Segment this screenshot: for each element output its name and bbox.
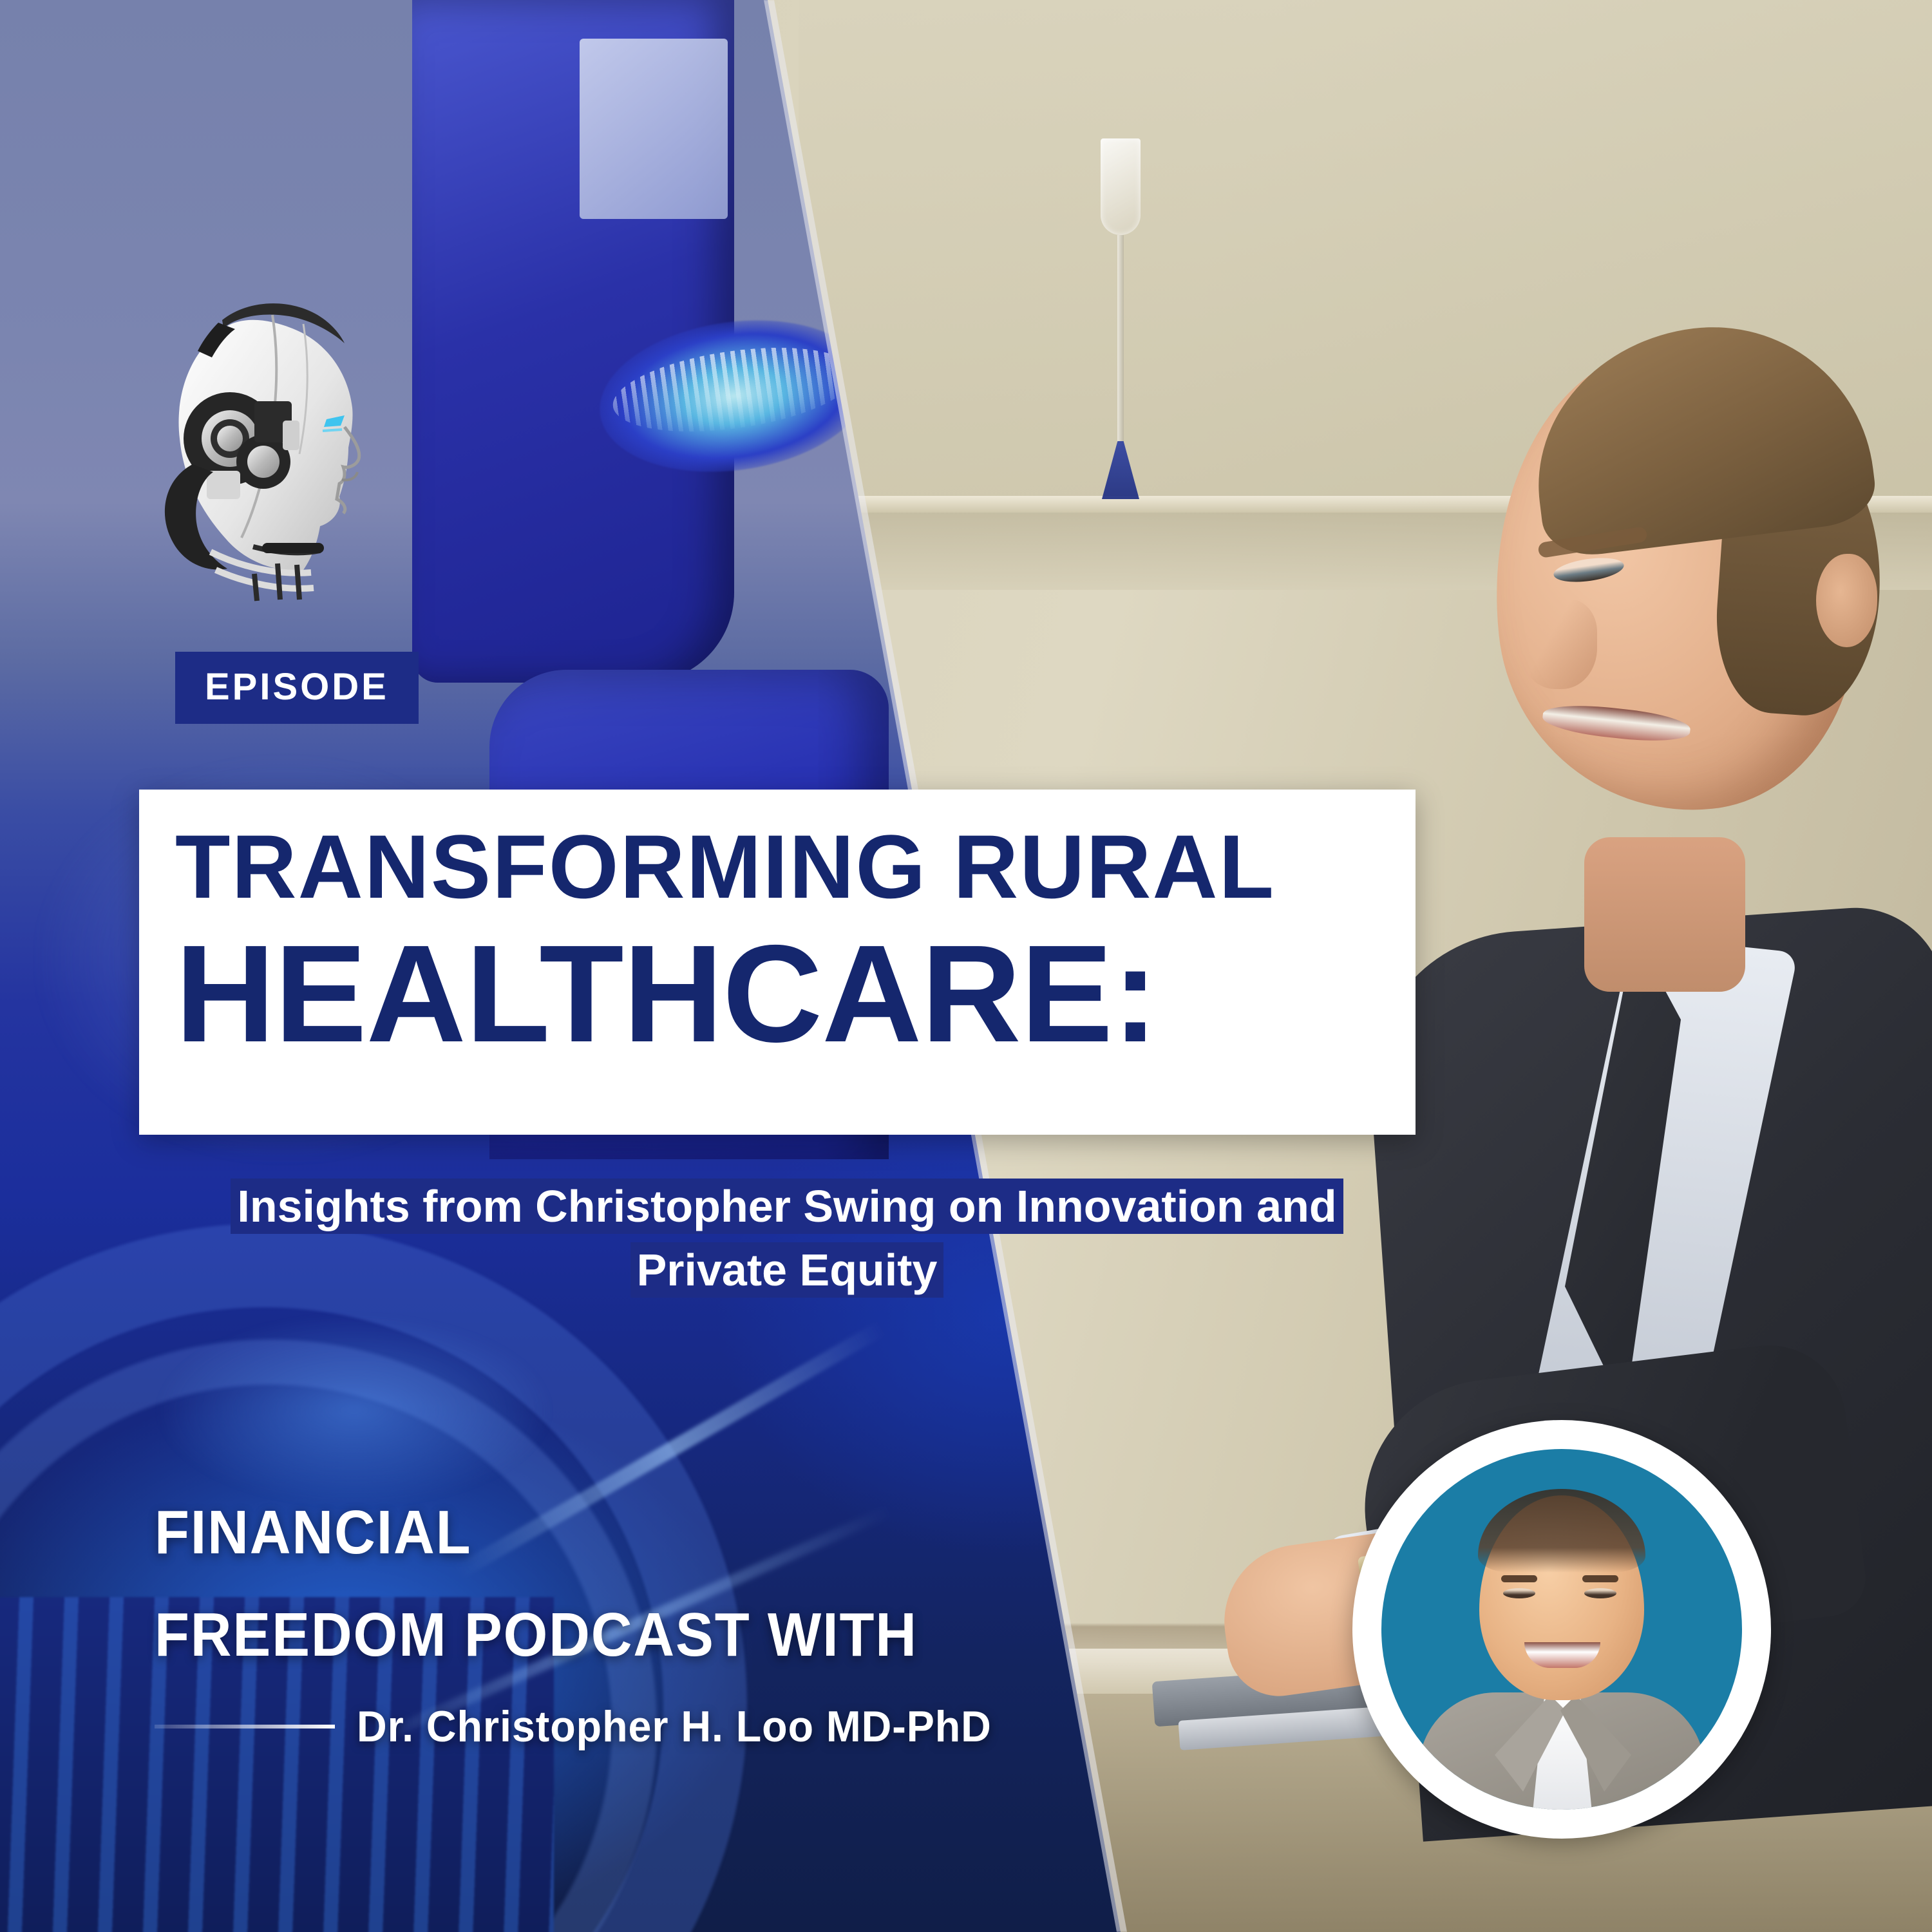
podcast-cover-art: EPISODE TRANSFORMING RURAL HEALTHCARE: I… bbox=[0, 0, 1932, 1932]
robot-head-icon bbox=[151, 287, 396, 602]
host-avatar bbox=[1352, 1420, 1771, 1839]
host-name: Dr. Christopher H. Loo MD-PhD bbox=[357, 1701, 992, 1752]
title-line-1: TRANSFORMING RURAL bbox=[175, 822, 1379, 912]
subtitle-text: Insights from Christopher Swing on Innov… bbox=[231, 1179, 1343, 1298]
title-line-2: HEALTHCARE: bbox=[175, 921, 1379, 1066]
brand-line-1: FINANCIAL bbox=[155, 1501, 1162, 1566]
host-avatar-image bbox=[1381, 1449, 1742, 1810]
podcast-branding: FINANCIAL FREEDOM PODCAST WITH Dr. Chris… bbox=[155, 1501, 1249, 1752]
tech-screen bbox=[580, 39, 728, 219]
tech-glow-lower bbox=[155, 1314, 554, 1507]
subtitle-band: Insights from Christopher Swing on Innov… bbox=[182, 1175, 1392, 1303]
host-row: Dr. Christopher H. Loo MD-PhD bbox=[155, 1701, 1249, 1752]
episode-badge: EPISODE bbox=[175, 652, 419, 724]
brand-line-2: FREEDOM PODCAST WITH bbox=[155, 1603, 1162, 1668]
glass-vase-decor bbox=[1092, 138, 1150, 499]
title-card: TRANSFORMING RURAL HEALTHCARE: bbox=[139, 790, 1416, 1135]
divider-rule bbox=[155, 1725, 335, 1728]
